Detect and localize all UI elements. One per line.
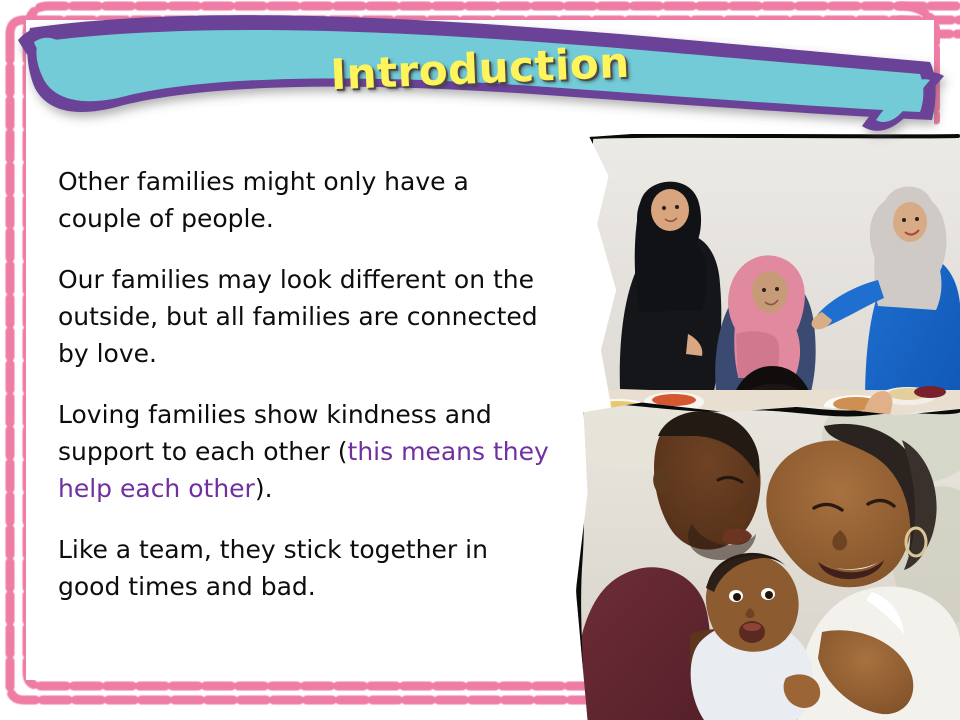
photo-stack bbox=[566, 110, 960, 720]
body-copy: Other families might only have a couple … bbox=[58, 163, 558, 605]
photo-parents-with-baby bbox=[572, 396, 960, 720]
paragraph-4: Like a team, they stick together in good… bbox=[58, 531, 558, 605]
paragraph-3-text-tail: ). bbox=[255, 474, 273, 503]
hand-drawn-border-bottom bbox=[572, 396, 960, 720]
title-banner bbox=[0, 0, 960, 190]
slide: Other families might only have a couple … bbox=[0, 0, 960, 720]
paragraph-4-text: Like a team, they stick together in good… bbox=[58, 535, 488, 601]
paragraph-2: Our families may look different on the o… bbox=[58, 261, 558, 372]
paragraph-2-text: Our families may look different on the o… bbox=[58, 265, 538, 368]
paragraph-3: Loving families show kindness and suppor… bbox=[58, 396, 558, 507]
